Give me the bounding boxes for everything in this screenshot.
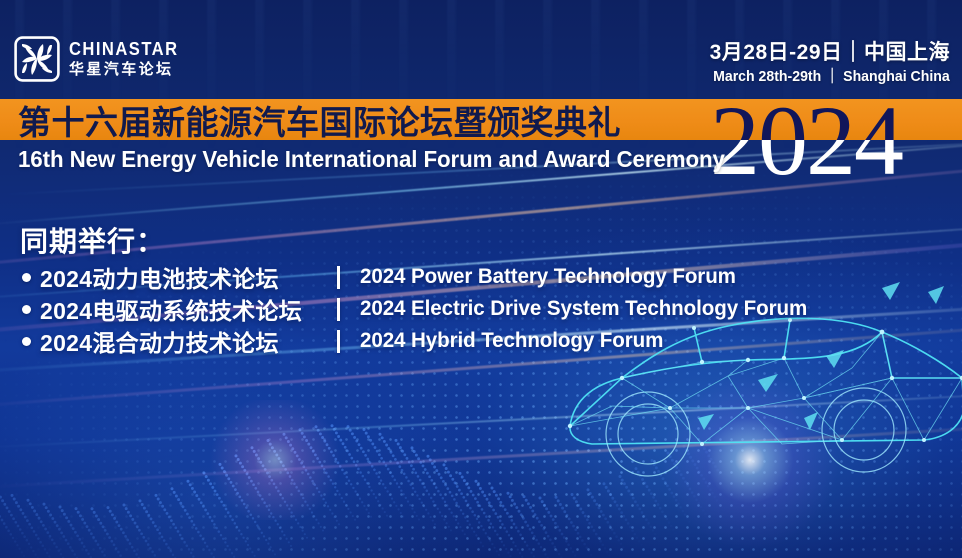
event-date-location: 3月28日-29日｜中国上海 March 28th-29th ｜ Shangha… <box>698 40 950 87</box>
brand-name-en: CHINASTAR <box>69 40 179 59</box>
bullet-icon <box>22 305 31 314</box>
dotted-wave-decoration <box>0 350 720 558</box>
list-item[interactable]: 2024动力电池技术论坛 2024 Power Battery Technolo… <box>22 262 842 292</box>
light-flare-secondary-decoration <box>200 400 350 520</box>
brand-logo-text: CHINASTAR 华星汽车论坛 <box>69 40 188 78</box>
event-date-en: March 28th-29th ｜ Shanghai China <box>713 67 950 87</box>
brand-name-cn: 华星汽车论坛 <box>69 61 188 78</box>
event-poster: CHINASTAR 华星汽车论坛 3月28日-29日｜中国上海 March 28… <box>0 0 962 558</box>
separator-divider <box>337 298 340 321</box>
list-item[interactable]: 2024电驱动系统技术论坛 2024 Electric Drive System… <box>22 294 842 324</box>
forum-name-cn: 2024动力电池技术论坛 <box>40 260 279 294</box>
forum-name-en: 2024 Hybrid Technology Forum <box>360 329 663 353</box>
brand-logo[interactable]: CHINASTAR 华星汽车论坛 <box>14 36 188 82</box>
light-flare-decoration <box>660 370 840 550</box>
event-date-cn: 3月28日-29日｜中国上海 <box>698 40 950 66</box>
separator-divider <box>337 330 340 353</box>
bullet-icon <box>22 273 31 282</box>
forum-name-en: 2024 Power Battery Technology Forum <box>360 265 736 289</box>
separator-divider <box>337 266 340 289</box>
chinastar-pinwheel-logo-icon <box>14 36 60 82</box>
page-title-en: 16th New Energy Vehicle International Fo… <box>18 142 755 176</box>
concurrent-forum-list: 2024动力电池技术论坛 2024 Power Battery Technolo… <box>22 262 842 358</box>
bullet-icon <box>22 337 31 346</box>
forum-name-cn: 2024混合动力技术论坛 <box>40 324 279 358</box>
forum-name-en: 2024 Electric Drive System Technology Fo… <box>360 297 807 321</box>
concurrent-events-heading: 同期举行： <box>20 220 165 260</box>
page-title-cn: 第十六届新能源汽车国际论坛暨颁奖典礼 <box>18 99 778 140</box>
list-item[interactable]: 2024混合动力技术论坛 2024 Hybrid Technology Foru… <box>22 326 842 356</box>
forum-name-cn: 2024电驱动系统技术论坛 <box>40 292 302 326</box>
